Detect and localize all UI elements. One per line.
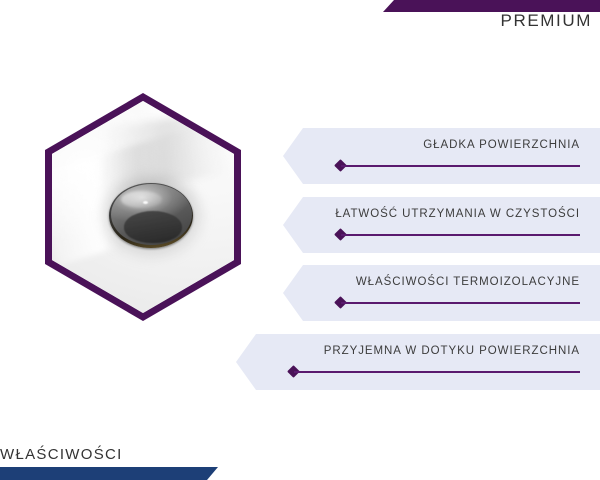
feature-label: GŁADKA POWIERZCHNIA (423, 139, 580, 151)
feature-rule (341, 165, 580, 167)
feature-rule (341, 302, 580, 304)
feature-label: WŁAŚCIWOŚCI TERMOIZOLACYJNE (356, 276, 580, 288)
feature-item[interactable]: PRZYJEMNA W DOTYKU POWIERZCHNIA (236, 334, 600, 390)
drain-highlight (121, 191, 163, 208)
feature-label: ŁATWOŚĆ UTRZYMANIA W CZYSTOŚCI (335, 208, 580, 220)
feature-rule (294, 371, 580, 373)
feature-item[interactable]: GŁADKA POWIERZCHNIA (283, 128, 600, 184)
page-title: PREMIUM (501, 11, 592, 31)
bottom-accent-banner (0, 467, 218, 480)
feature-item[interactable]: WŁAŚCIWOŚCI TERMOIZOLACYJNE (283, 265, 600, 321)
footer-title: WŁAŚCIWOŚCI (0, 446, 123, 463)
drain-ring (109, 183, 193, 249)
drain-inner-dark (124, 211, 182, 243)
feature-label: PRZYJEMNA W DOTYKU POWIERZCHNIA (324, 345, 580, 357)
drain-bowl (111, 184, 192, 245)
slide-root: PREMIUM GŁADKA POWIERZCHNIA ŁATW (0, 0, 600, 480)
drain-specular-dot (143, 201, 148, 204)
feature-rule (341, 234, 580, 236)
feature-item[interactable]: ŁATWOŚĆ UTRZYMANIA W CZYSTOŚCI (283, 197, 600, 253)
hexagon-image-frame (45, 93, 241, 321)
